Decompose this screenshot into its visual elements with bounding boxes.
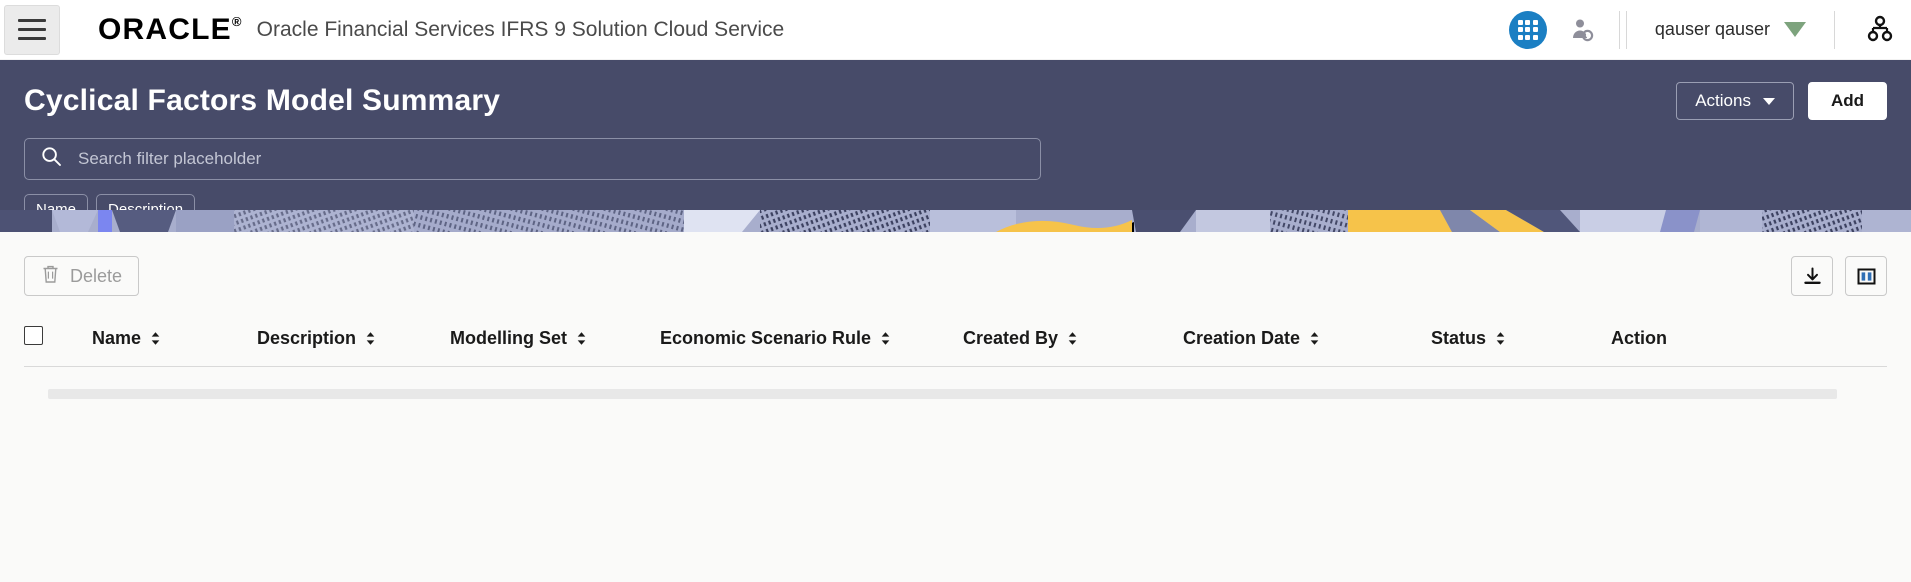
trash-icon (41, 264, 60, 289)
oracle-logo: ORACLE ® (98, 13, 243, 47)
chevron-down-icon (1763, 98, 1775, 105)
banner-decorative-artwork (0, 210, 1911, 232)
hamburger-bar (18, 28, 46, 31)
banner-header-row: Cyclical Factors Model Summary Actions A… (24, 60, 1887, 120)
column-header-label: Creation Date (1183, 328, 1300, 349)
column-header-label: Name (92, 328, 141, 349)
column-header-label: Economic Scenario Rule (660, 328, 871, 349)
header-right-cluster: qauser qauser (1509, 0, 1911, 59)
table-horizontal-scrollbar[interactable] (48, 389, 1837, 399)
sort-updown-icon[interactable] (1495, 331, 1506, 346)
add-button[interactable]: Add (1808, 82, 1887, 120)
search-input[interactable] (78, 149, 1040, 169)
application-title: Oracle Financial Services IFRS 9 Solutio… (257, 18, 785, 42)
apps-grid-icon[interactable] (1509, 11, 1547, 49)
sort-updown-icon[interactable] (576, 331, 587, 346)
column-layout-icon[interactable] (1845, 256, 1887, 296)
checkbox-unchecked-icon[interactable] (24, 326, 43, 345)
delete-button[interactable]: Delete (24, 256, 139, 296)
actions-button[interactable]: Actions (1676, 82, 1794, 120)
hamburger-bar (18, 19, 46, 22)
content-area: Delete (0, 232, 1911, 582)
column-header-created-by[interactable]: Created By (963, 320, 1183, 366)
sort-updown-icon[interactable] (1067, 331, 1078, 346)
data-table: Name Description (0, 320, 1911, 366)
select-all-header (24, 320, 92, 366)
user-menu[interactable]: qauser qauser (1627, 19, 1806, 40)
download-icon[interactable] (1791, 256, 1833, 296)
column-header-status[interactable]: Status (1431, 320, 1611, 366)
column-header-description[interactable]: Description (257, 320, 450, 366)
oracle-wordmark: ORACLE (98, 13, 232, 47)
toolbar-icon-buttons (1791, 256, 1887, 296)
user-settings-icon[interactable] (1569, 17, 1595, 43)
column-header-action: Action (1611, 320, 1887, 366)
search-box[interactable] (24, 138, 1041, 180)
user-name-label: qauser qauser (1655, 19, 1770, 40)
column-header-label: Created By (963, 328, 1058, 349)
table-header-divider (24, 366, 1887, 367)
banner-action-buttons: Actions Add (1676, 82, 1887, 120)
header-divider (1619, 11, 1620, 49)
actions-button-label: Actions (1695, 91, 1751, 111)
app-page: ORACLE ® Oracle Financial Services IFRS … (0, 0, 1911, 582)
hamburger-menu-icon[interactable] (4, 5, 60, 55)
registered-mark: ® (232, 15, 243, 28)
page-title: Cyclical Factors Model Summary (24, 84, 500, 118)
org-hierarchy-icon[interactable] (1865, 15, 1895, 45)
chevron-down-icon[interactable] (1784, 22, 1806, 37)
search-icon (41, 146, 62, 172)
column-header-economic-scenario-rule[interactable]: Economic Scenario Rule (660, 320, 963, 366)
global-header: ORACLE ® Oracle Financial Services IFRS … (0, 0, 1911, 60)
column-header-label: Action (1611, 328, 1667, 349)
column-header-label: Description (257, 328, 356, 349)
page-banner: Cyclical Factors Model Summary Actions A… (0, 60, 1911, 232)
sort-updown-icon[interactable] (1309, 331, 1320, 346)
header-divider (1834, 11, 1835, 49)
delete-button-label: Delete (70, 266, 122, 287)
hamburger-bar (18, 37, 46, 40)
table-toolbar: Delete (0, 232, 1911, 296)
sort-updown-icon[interactable] (880, 331, 891, 346)
sort-updown-icon[interactable] (150, 331, 161, 346)
table-header-row: Name Description (24, 320, 1887, 366)
column-header-name[interactable]: Name (92, 320, 257, 366)
column-header-label: Modelling Set (450, 328, 567, 349)
column-header-creation-date[interactable]: Creation Date (1183, 320, 1431, 366)
column-header-label: Status (1431, 328, 1486, 349)
sort-updown-icon[interactable] (365, 331, 376, 346)
column-header-modelling-set[interactable]: Modelling Set (450, 320, 660, 366)
